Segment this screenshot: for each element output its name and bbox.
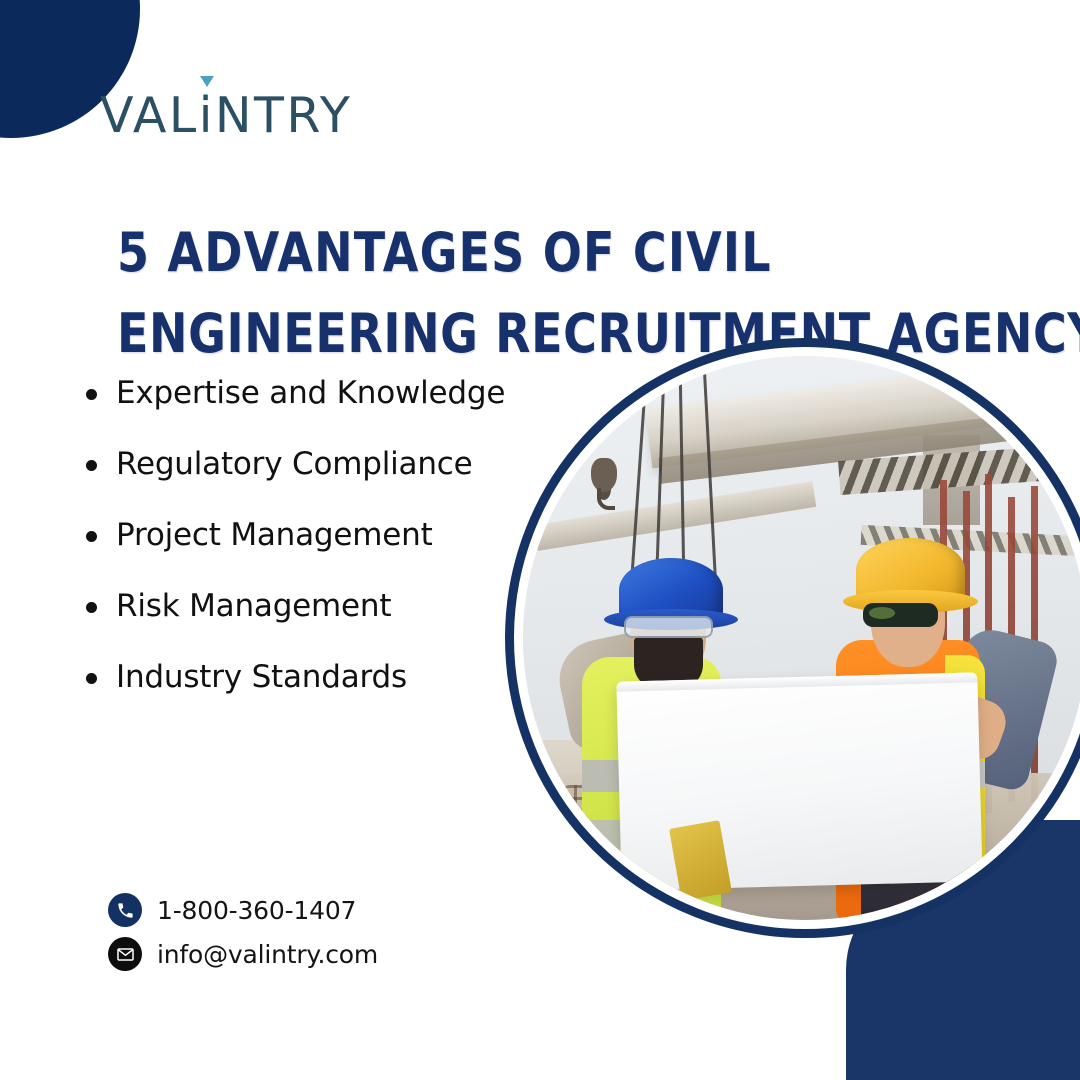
list-item: Regulatory Compliance — [84, 449, 554, 480]
photo-worker-left-safety-glasses — [624, 616, 713, 637]
logo-text-ntry: NTRY — [215, 87, 352, 144]
page-title: 5 ADVANTAGES OF CIVIL ENGINEERING RECRUI… — [117, 218, 967, 358]
advantages-list: Expertise and Knowledge Regulatory Compl… — [84, 378, 554, 733]
phone-icon — [108, 893, 142, 927]
contact-block: 1-800-360-1407 info@valintry.com — [108, 893, 378, 981]
list-item: Risk Management — [84, 591, 554, 622]
logo-letter-i: i — [199, 91, 215, 140]
contact-phone-row[interactable]: 1-800-360-1407 — [108, 893, 378, 927]
list-item: Expertise and Knowledge — [84, 378, 554, 409]
brand-logo: VALiNTRY — [100, 84, 352, 140]
contact-email-row[interactable]: info@valintry.com — [108, 937, 378, 971]
logo-triangle-dot-icon — [200, 76, 214, 87]
photo-crane-hook — [591, 458, 617, 492]
envelope-icon — [108, 937, 142, 971]
list-item: Industry Standards — [84, 662, 554, 693]
list-item: Project Management — [84, 520, 554, 551]
photo-worker-right-hard-hat — [856, 538, 965, 602]
photo-circle-frame — [505, 338, 1080, 938]
headline-line-1: 5 ADVANTAGES OF CIVIL — [117, 218, 967, 288]
construction-workers-photo — [523, 356, 1080, 920]
logo-text-i: i — [199, 87, 215, 144]
photo-blueprint-sheet — [616, 673, 982, 891]
logo-wordmark: VALiNTRY — [100, 91, 352, 140]
email-address: info@valintry.com — [157, 942, 378, 967]
logo-text-val: VAL — [100, 87, 199, 144]
photo-worker-left-hard-hat — [619, 558, 723, 622]
photo-worker-right-sunglasses — [863, 603, 937, 628]
phone-number: 1-800-360-1407 — [157, 898, 356, 923]
poster-canvas: VALiNTRY 5 ADVANTAGES OF CIVIL ENGINEERI… — [0, 0, 1080, 1080]
